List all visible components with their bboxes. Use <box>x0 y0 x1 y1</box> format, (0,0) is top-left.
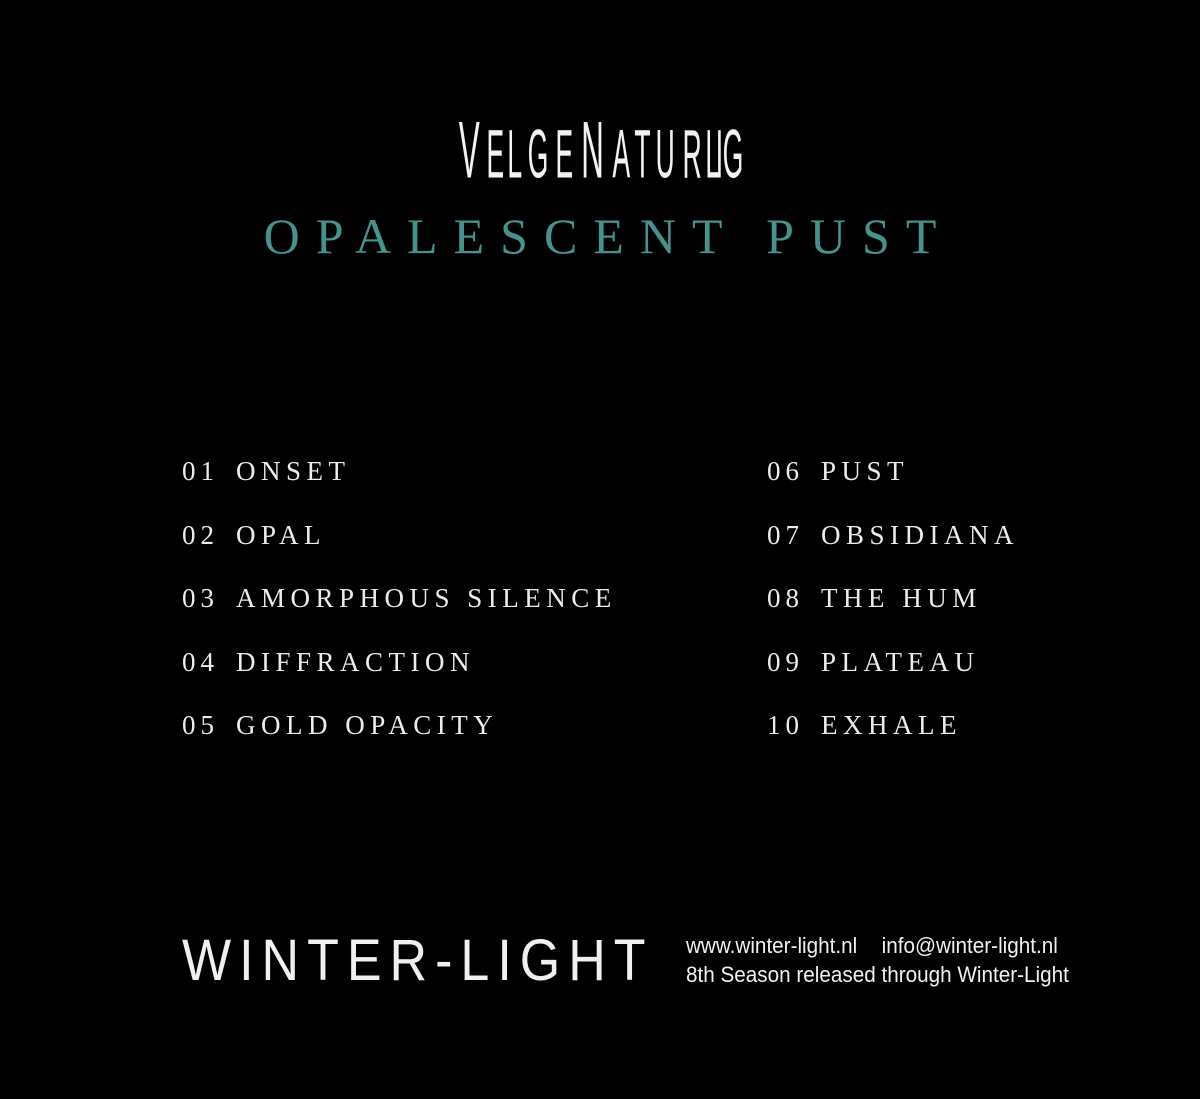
track-number: 09 <box>767 647 804 678</box>
track-title: PUST <box>821 456 909 487</box>
track-title: DIFFRACTION <box>236 647 475 678</box>
track-number: 05 <box>182 710 219 741</box>
track-row: 08THE HUM <box>767 567 1082 631</box>
track-title: OPAL <box>236 520 326 551</box>
band-logo-letter-4: E <box>556 119 574 188</box>
track-row: 07OBSIDIANA <box>767 504 1082 568</box>
tracklist-column-right: 06PUST07OBSIDIANA08THE HUM09PLATEAU10EXH… <box>767 440 1082 758</box>
band-logo-letter-5: N <box>582 109 605 190</box>
band-logo-letters: VELGENATURLIG <box>451 112 749 190</box>
track-title: ONSET <box>236 456 351 487</box>
label-email[interactable]: info@winter-light.nl <box>881 933 1057 958</box>
band-logo: VELGENATURLIG <box>0 112 1200 190</box>
track-number: 07 <box>767 520 804 551</box>
band-logo-letter-12: G <box>723 119 744 188</box>
track-number: 06 <box>767 456 804 487</box>
band-logo-letter-9: R <box>682 119 701 188</box>
track-row: 06PUST <box>767 440 1082 504</box>
band-logo-letter-6: A <box>612 119 630 188</box>
track-row: 05GOLD OPACITY <box>182 694 767 758</box>
track-number: 04 <box>182 647 219 678</box>
footer: WINTER-LIGHT www.winter-light.nlinfo@win… <box>182 932 1082 997</box>
band-logo-letter-0: V <box>459 109 480 190</box>
track-number: 01 <box>182 456 219 487</box>
band-logo-letter-1: E <box>487 119 505 188</box>
track-row: 04DIFFRACTION <box>182 631 767 695</box>
track-number: 02 <box>182 520 219 551</box>
release-note: 8th Season released through Winter-Light <box>686 961 1069 990</box>
band-logo-letter-2: L <box>508 119 523 188</box>
track-row: 10EXHALE <box>767 694 1082 758</box>
winter-light-label-logo: WINTER-LIGHT <box>182 932 654 997</box>
track-title: AMORPHOUS SILENCE <box>236 583 617 614</box>
track-row: 09PLATEAU <box>767 631 1082 695</box>
track-number: 03 <box>182 583 219 614</box>
track-row: 02OPAL <box>182 504 767 568</box>
tracklist-column-left: 01ONSET02OPAL03AMORPHOUS SILENCE04DIFFRA… <box>182 440 767 758</box>
band-logo-letter-3: G <box>528 119 549 188</box>
track-number: 10 <box>767 710 804 741</box>
track-title: GOLD OPACITY <box>236 710 498 741</box>
track-row: 03AMORPHOUS SILENCE <box>182 567 767 631</box>
track-title: THE HUM <box>821 583 982 614</box>
track-number: 08 <box>767 583 804 614</box>
label-website[interactable]: www.winter-light.nl <box>686 933 857 958</box>
track-title: EXHALE <box>821 710 962 741</box>
footer-contact-block: www.winter-light.nlinfo@winter-light.nl … <box>686 932 1069 997</box>
track-row: 01ONSET <box>182 440 767 504</box>
tracklist: 01ONSET02OPAL03AMORPHOUS SILENCE04DIFFRA… <box>182 440 1082 758</box>
footer-contact-line: www.winter-light.nlinfo@winter-light.nl <box>686 932 1069 961</box>
album-back-cover: VELGENATURLIG OPALESCENT PUST 01ONSET02O… <box>0 0 1200 1099</box>
band-logo-letter-8: U <box>656 119 675 188</box>
track-title: PLATEAU <box>821 647 980 678</box>
album-title: OPALESCENT PUST <box>0 207 1200 265</box>
band-logo-letter-7: T <box>634 119 651 188</box>
track-title: OBSIDIANA <box>821 520 1019 551</box>
